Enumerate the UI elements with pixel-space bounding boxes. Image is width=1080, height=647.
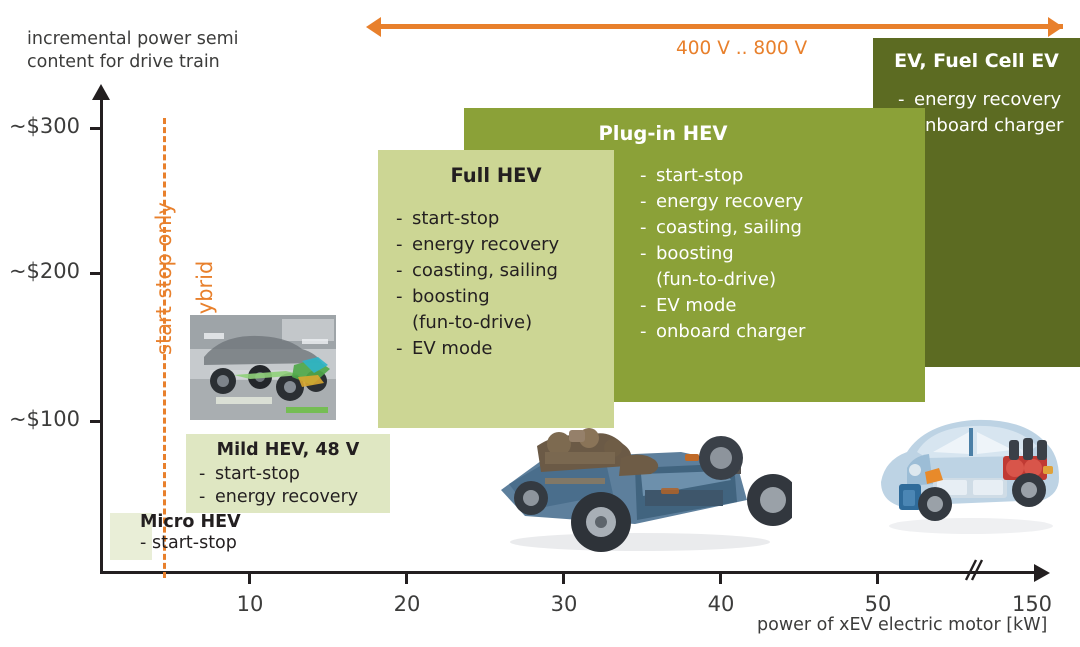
chart-canvas: incremental power semi content for drive… <box>0 0 1080 647</box>
feature-label: energy recovery <box>412 232 559 258</box>
x-tick-label: 40 <box>691 592 751 616</box>
bullet-dash: - <box>640 293 656 319</box>
category-feature-list-mild-hev: - start-stop - energy recovery <box>186 463 390 510</box>
x-tick-label: 10 <box>220 592 280 616</box>
bullet-dash: - <box>396 258 412 284</box>
category-label-micro-hev: Micro HEV - start-stop <box>140 512 241 555</box>
bullet-dash: - <box>640 189 656 215</box>
feature-label: onboard charger <box>914 113 1063 139</box>
bullet-dash: - <box>199 463 215 486</box>
feature-label: start-stop <box>412 206 499 232</box>
list-item: - energy recovery <box>396 232 614 258</box>
feature-label: boosting <box>656 241 734 267</box>
bullet-dash: - <box>396 284 412 310</box>
mild-hybrid-chassis-photo <box>190 315 336 420</box>
x-tick-label: 50 <box>848 592 908 616</box>
list-item: - coasting, sailing <box>396 258 614 284</box>
voltage-range-label: 400 V .. 800 V <box>676 38 807 59</box>
x-axis-line <box>100 571 1040 574</box>
region-label-start-stop-only: start-stop only <box>152 202 176 355</box>
list-item: (fun-to-drive) <box>640 267 925 293</box>
feature-label: energy recovery <box>215 486 358 509</box>
y-tick-label-wrap: ~$100 <box>0 407 86 431</box>
feature-label: (fun-to-drive) <box>412 310 532 336</box>
y-axis-line <box>100 98 103 574</box>
category-box-full-hev[interactable]: Full HEV - start-stop - energy recovery … <box>378 150 614 428</box>
feature-label: boosting <box>412 284 490 310</box>
y-tick-mark <box>90 127 103 130</box>
x-tick-label: 30 <box>534 592 594 616</box>
feature-label: EV mode <box>412 336 492 362</box>
bullet-dash: - <box>396 232 412 258</box>
category-feature-list-micro-hev: - start-stop <box>140 532 241 555</box>
bullet-dash: - <box>396 336 412 362</box>
x-axis-arrowhead <box>1034 564 1050 582</box>
feature-label: start-stop <box>656 163 743 189</box>
y-tick-mark <box>90 272 103 275</box>
y-tick-label: ~$300 <box>0 114 86 138</box>
x-tick-label: 150 <box>1002 592 1062 616</box>
list-item: - start-stop <box>140 532 241 555</box>
category-feature-list-full-hev: - start-stop - energy recovery - coastin… <box>378 206 614 362</box>
bullet-dash: - <box>396 206 412 232</box>
list-item: - start-stop <box>396 206 614 232</box>
y-tick-label: ~$200 <box>0 259 86 283</box>
bullet-dash: - <box>640 319 656 345</box>
x-tick-label: 20 <box>377 592 437 616</box>
feature-label: energy recovery <box>914 87 1061 113</box>
list-item: - start-stop <box>640 163 925 189</box>
feature-label: start-stop <box>215 463 300 486</box>
feature-label: coasting, sailing <box>656 215 802 241</box>
list-item: - onboard charger <box>898 113 1080 139</box>
list-item: - start-stop <box>199 463 390 486</box>
category-title-full-hev: Full HEV <box>378 164 614 206</box>
bullet-dash: - <box>140 532 152 555</box>
feature-label: (fun-to-drive) <box>656 267 776 293</box>
y-tick-label-wrap: ~$300 <box>0 114 86 138</box>
list-item: - coasting, sailing <box>640 215 925 241</box>
y-axis-title: incremental power semi content for drive… <box>27 28 287 74</box>
y-tick-mark <box>90 420 103 423</box>
voltage-arrow-right-head <box>1048 17 1063 37</box>
x-tick-mark <box>562 571 565 584</box>
y-tick-label-wrap: ~$200 <box>0 259 86 283</box>
x-tick-mark <box>405 571 408 584</box>
plug-in-hybrid-chassis-photo <box>485 424 792 552</box>
list-item: - energy recovery <box>898 87 1080 113</box>
feature-label: onboard charger <box>656 319 805 345</box>
list-item: - boosting <box>396 284 614 310</box>
list-item: - energy recovery <box>640 189 925 215</box>
feature-label: energy recovery <box>656 189 803 215</box>
x-tick-mark <box>876 571 879 584</box>
feature-label: EV mode <box>656 293 736 319</box>
feature-label: start-stop <box>152 532 237 555</box>
y-tick-label: ~$100 <box>0 407 86 431</box>
category-box-mild-hev[interactable]: Mild HEV, 48 V - start-stop - energy rec… <box>186 434 390 513</box>
list-item: - EV mode <box>396 336 614 362</box>
x-tick-mark <box>248 571 251 584</box>
category-title-micro-hev: Micro HEV <box>140 512 241 532</box>
list-item: (fun-to-drive) <box>396 310 614 336</box>
bullet-dash: - <box>640 163 656 189</box>
category-title-mild-hev: Mild HEV, 48 V <box>186 440 390 463</box>
list-item: - boosting <box>640 241 925 267</box>
bullet-dash-spacer <box>640 267 656 293</box>
list-item: - onboard charger <box>640 319 925 345</box>
axis-break-icon <box>962 556 984 584</box>
x-tick-mark <box>719 571 722 584</box>
ev-cutaway-photo <box>873 408 1067 538</box>
feature-label: coasting, sailing <box>412 258 558 284</box>
bullet-dash-spacer <box>396 310 412 336</box>
category-title-ev: EV, Fuel Cell EV <box>873 50 1080 87</box>
list-item: - EV mode <box>640 293 925 319</box>
voltage-arrow-shaft <box>375 24 1063 29</box>
x-axis-title: power of xEV electric motor [kW] <box>757 615 1047 635</box>
list-item: - energy recovery <box>199 486 390 509</box>
bullet-dash: - <box>640 241 656 267</box>
bullet-dash: - <box>199 486 215 509</box>
bullet-dash: - <box>640 215 656 241</box>
